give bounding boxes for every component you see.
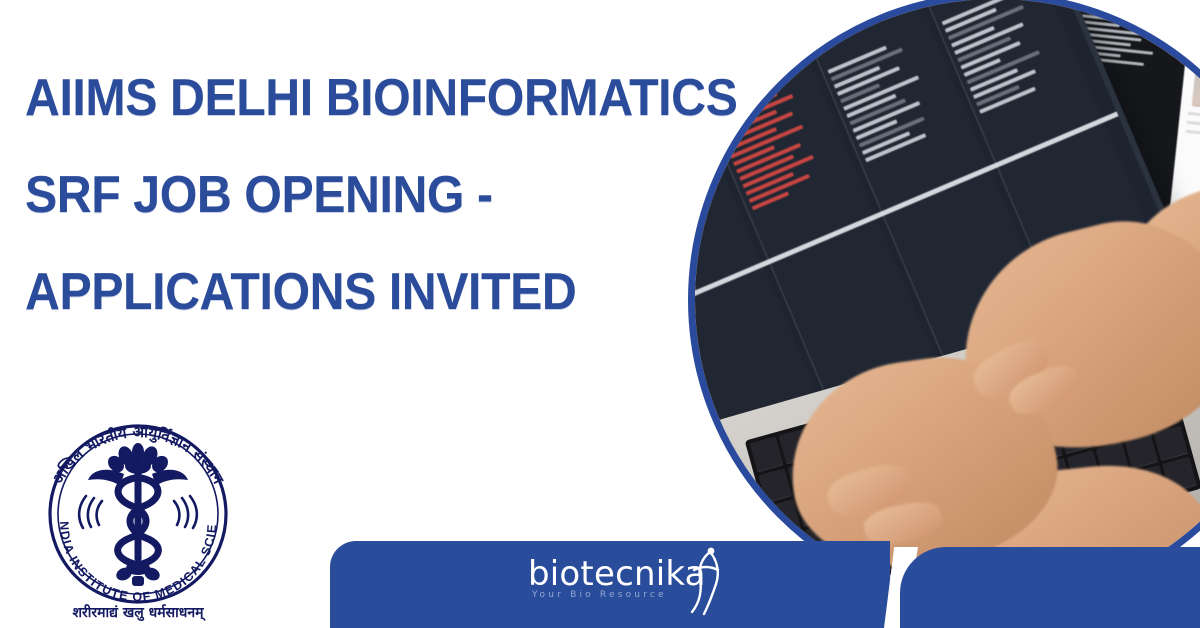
headline-line-1: AIIMS DELHI BIOINFORMATICS bbox=[25, 50, 676, 147]
biotecnika-logo[interactable]: biotecnika Your Bio Resource bbox=[528, 552, 728, 614]
person-coding-on-laptop-photo bbox=[695, 0, 1200, 601]
aiims-motto: शरीरमाद्यं खलु धर्मसाधनम् bbox=[73, 604, 207, 622]
circular-photo-frame bbox=[688, 0, 1200, 608]
secondary-browser-image bbox=[1192, 14, 1200, 119]
aiims-logo: अखिल भारतीय आयुर्विज्ञान संस्थान ALL IND… bbox=[28, 418, 248, 623]
bottom-banner-right bbox=[900, 547, 1200, 628]
page-title: AIIMS DELHI BIOINFORMATICS SRF JOB OPENI… bbox=[25, 50, 676, 341]
biotecnika-tagline: Your Bio Resource bbox=[532, 590, 667, 600]
biotecnika-figure-icon bbox=[680, 546, 726, 616]
headline-line-3: APPLICATIONS INVITED bbox=[25, 244, 676, 341]
poster-canvas: AIIMS DELHI BIOINFORMATICS SRF JOB OPENI… bbox=[0, 0, 1200, 628]
headline-line-2: SRF JOB OPENING - bbox=[25, 147, 676, 244]
caduceus-emblem bbox=[79, 443, 197, 586]
